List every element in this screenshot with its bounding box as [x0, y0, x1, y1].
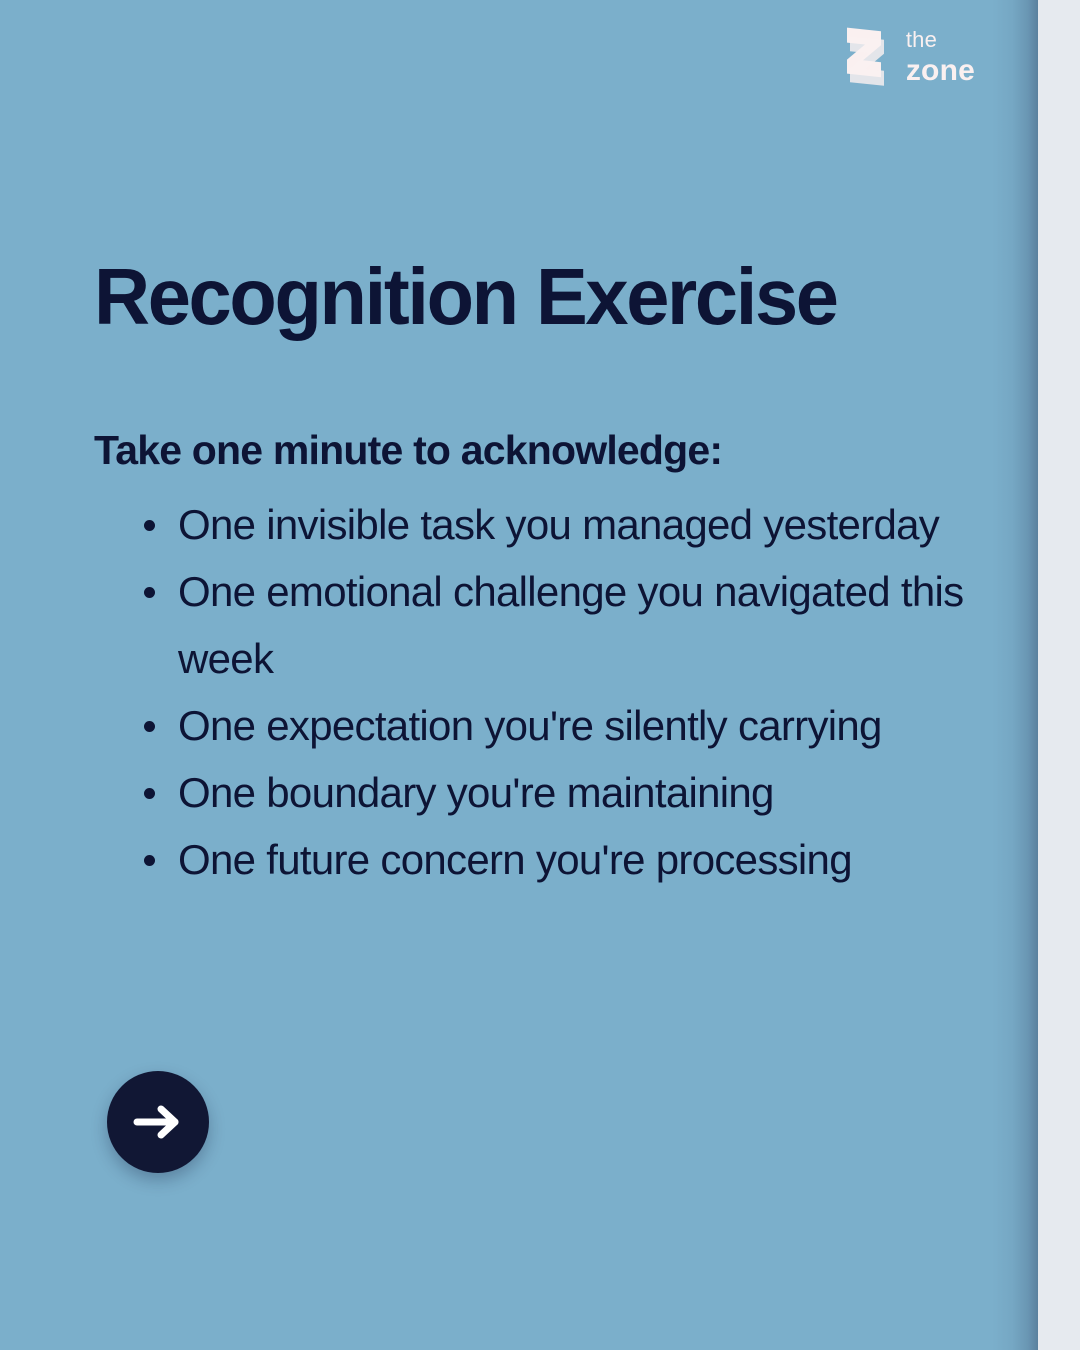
next-slide-button[interactable]: [107, 1071, 209, 1173]
brand-word-the: the: [906, 29, 975, 51]
list-item-label: One emotional challenge you navigated th…: [178, 558, 988, 692]
slide-content: Recognition Exercise Take one minute to …: [94, 258, 994, 893]
bullet-dot-icon: [144, 788, 155, 799]
arrow-right-icon: [130, 1104, 186, 1140]
list-item: One future concern you're processing: [94, 826, 994, 893]
brand-word-zone: zone: [906, 56, 975, 86]
bullet-dot-icon: [144, 520, 155, 531]
list-item-label: One future concern you're processing: [178, 826, 988, 893]
list-item-label: One expectation you're silently carrying: [178, 692, 988, 759]
slide-subtitle: Take one minute to acknowledge:: [94, 428, 994, 473]
list-item: One invisible task you managed yesterday: [94, 491, 994, 558]
slide-canvas: the zone Recognition Exercise Take one m…: [0, 0, 1080, 1350]
page-title: Recognition Exercise: [94, 258, 967, 336]
brand-wordmark: the zone: [906, 29, 975, 86]
card-edge-shadow: [992, 0, 1038, 1350]
list-item-label: One invisible task you managed yesterday: [178, 491, 988, 558]
bullet-dot-icon: [144, 587, 155, 598]
bullet-dot-icon: [144, 721, 155, 732]
next-slide-gutter: [1038, 0, 1080, 1350]
the-zone-z-logo-icon: [840, 24, 892, 90]
list-item: One boundary you're maintaining: [94, 759, 994, 826]
bullet-dot-icon: [144, 855, 155, 866]
list-item-label: One boundary you're maintaining: [178, 759, 988, 826]
slide-card: the zone Recognition Exercise Take one m…: [0, 0, 1038, 1350]
acknowledge-list: One invisible task you managed yesterday…: [94, 491, 994, 893]
list-item: One expectation you're silently carrying: [94, 692, 994, 759]
brand-logo: the zone: [840, 24, 975, 90]
list-item: One emotional challenge you navigated th…: [94, 558, 994, 692]
